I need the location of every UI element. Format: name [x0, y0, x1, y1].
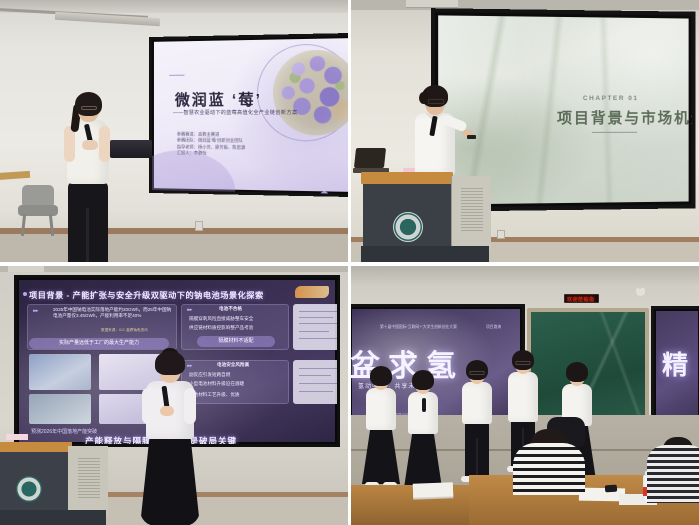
presenter-person [62, 96, 114, 262]
slide-subtitle: ——智慧农业驱动下的蓝莓高值化全产业链创新方案 [173, 109, 298, 116]
chair-leg-left [21, 214, 26, 236]
classroom-chair [18, 185, 58, 235]
glasses-icon [470, 371, 485, 375]
presenter-arm-right [99, 126, 110, 162]
right-slide: 精 [656, 311, 698, 423]
photo-top-left[interactable]: 微润蓝 ‘莓’ ——智慧农业驱动下的蓝莓高值化全产业链创新方案 参赛赛道：高教主… [0, 0, 348, 262]
chair-leg-right [49, 214, 54, 236]
school-emblem-icon [16, 476, 42, 502]
slide-left-pill: 实际产量远低于工厂的最大生产能力 [29, 338, 169, 349]
ceiling-strip [351, 266, 699, 288]
judge-1-striped-sweater [513, 443, 585, 495]
lectern-base [361, 246, 489, 262]
lectern-base [0, 510, 106, 525]
doc-line [299, 323, 339, 324]
doc-line [299, 368, 337, 369]
slide-left-text: 2025年中国钠电池实际落地产能约20GWh，而25年中国钠电池产量仅3.45G… [53, 307, 173, 320]
slide-mid1-bullet-1: 隔膜穿刺风险直接威胁整车安全 [189, 316, 253, 322]
led-banner: 欢迎莅临指导 [564, 294, 599, 303]
slide-tick-mark [169, 75, 184, 76]
member-shirt [508, 372, 538, 422]
doc-line [299, 317, 333, 318]
presenter-skirt [140, 436, 200, 525]
member-shirt [462, 382, 492, 424]
photo-top-right[interactable]: CHAPTER 01 项目背景与市场机遇 [351, 0, 699, 262]
slide-right-document-2 [293, 360, 340, 404]
presenter-person [411, 90, 461, 185]
slide-title: 微润蓝 ‘莓’ [175, 88, 262, 110]
slide-dot-decoration [320, 191, 329, 197]
slide-meta-block: 参赛赛道：高教主赛道 参赛团队：微润蓝‘莓’创新创业团队 指导老师：杨小芳、廖芳… [177, 132, 245, 158]
slide-chapter-title: 项目背景与市场机遇 [557, 107, 695, 128]
member-skirt [362, 428, 400, 484]
right-slide-big-title: 精 [662, 345, 688, 382]
photo-collage: 微润蓝 ‘莓’ ——智慧农业驱动下的蓝莓高值化全产业链创新方案 参赛赛道：高教主… [0, 0, 699, 525]
presenter-hair-bun [419, 92, 428, 104]
school-emblem-icon [393, 212, 423, 242]
stacked-papers-left [413, 482, 453, 497]
slide-title: 项目背景 - 产能扩张与安全升级双驱动下的钠电池场景化探索 [29, 289, 264, 301]
slide-underline-rule [592, 132, 637, 133]
projection-screen: 微润蓝 ‘莓’ ——智慧农业驱动下的蓝莓高值化全产业链创新方案 参赛赛道：高教主… [149, 33, 348, 197]
slide-mid2-heading: 电池安全风险高 [217, 362, 249, 368]
doc-line [299, 311, 337, 312]
doc-line [299, 375, 331, 376]
slide-footer-note: 预测2026年中国落地产能突破 [31, 428, 97, 435]
presenter-hair [155, 351, 185, 375]
team-member-1 [359, 370, 403, 490]
presenter-person [136, 356, 206, 525]
wall-socket [497, 230, 505, 239]
lectern-top [0, 442, 72, 452]
led-banner-text: 欢迎莅临指导 [567, 296, 598, 303]
left-slide-corner-text: 项目路演 [486, 325, 501, 330]
slide-right-document-1 [293, 304, 340, 350]
chevron-right-icon: ▸▸▸ [187, 307, 192, 313]
slide-mid1-pill: 隔膜材料不适配 [197, 336, 275, 347]
presenter-hair [75, 92, 102, 116]
microphone-icon [422, 398, 426, 412]
judge-2-striped-sweater [647, 445, 699, 503]
slide-meta-line-3: 指导老师：杨小芳、廖芳振、陈思源 [177, 144, 245, 151]
doc-line [299, 331, 329, 332]
blueberry-basket-image [273, 49, 348, 135]
laptop-screen [354, 148, 386, 168]
slide-factory-photo-2 [29, 394, 91, 424]
doc-line [299, 338, 337, 339]
member-shirt [366, 388, 396, 430]
member-hair [566, 362, 588, 382]
security-camera-icon [636, 288, 645, 296]
member-hair [512, 350, 534, 370]
presenter-hands [160, 406, 174, 416]
member-trousers [465, 422, 489, 482]
presenter-arm-left [142, 388, 154, 424]
lectern-speaker-grill [78, 458, 100, 498]
lectern-front-panel [363, 184, 451, 246]
glasses-icon [516, 361, 531, 365]
presentation-clicker-icon [467, 135, 476, 139]
slide-left-source: 数据来源：ICC 鑫椤钠电资讯 [101, 327, 148, 333]
slide-title-bullet [23, 292, 27, 296]
presenter-arm-right [184, 388, 196, 424]
member-skirt [404, 432, 442, 488]
chevron-right-icon: ▸▸▸ [33, 308, 38, 314]
right-projection-screen: 精 [651, 306, 699, 428]
slide-mid1-heading: 电池不合格 [219, 306, 242, 312]
air-conditioner [406, 0, 458, 8]
presenter-hands [82, 140, 98, 150]
papers-on-lectern [6, 434, 28, 440]
glasses-icon [428, 99, 444, 104]
photo-bottom-right[interactable]: 第十届中国国际“互联网+”大学生创新创业大赛 项目路演 盆求氢 氢动中国 · 共… [351, 266, 699, 525]
team-member-3 [455, 364, 499, 490]
mobile-phone [605, 485, 617, 493]
slide-meta-line-4: 汇报人：李静怡 [177, 151, 245, 158]
member-hair [370, 366, 392, 386]
team-member-2 [401, 374, 445, 494]
lectern [361, 172, 491, 262]
air-conditioner [8, 266, 44, 272]
member-hair [412, 370, 434, 390]
ceiling-strip [0, 266, 348, 272]
glasses-icon [81, 106, 97, 110]
slide-title-blueberry: 微润蓝 ‘莓’ ——智慧农业驱动下的蓝莓高值化全产业链创新方案 参赛赛道：高教主… [154, 38, 348, 192]
lectern-front-panel [0, 452, 68, 510]
slide-factory-photo-1 [29, 354, 91, 390]
presenter-trousers [68, 182, 108, 262]
doc-line [299, 383, 339, 384]
slide-chapter-label: CHAPTER 01 [583, 95, 639, 102]
lectern [0, 442, 108, 525]
wall-socket [195, 221, 203, 231]
member-hair [466, 360, 488, 380]
floor [0, 232, 348, 262]
slide-mid1-bullet-2: 供应链材料质控影响整产品考验 [189, 325, 253, 331]
doc-line [299, 391, 333, 392]
small-av-box [110, 140, 152, 158]
lectern-top [361, 172, 453, 184]
competition-logo-icon [295, 286, 329, 298]
photo-bottom-left[interactable]: 项目背景 - 产能扩张与安全升级双驱动下的钠电池场景化探索 ▸▸▸ 2025年中… [0, 266, 348, 525]
left-slide-top-text: 第十届中国国际“互联网+”大学生创新创业大赛 [380, 325, 457, 330]
lectern-speaker-grill [461, 188, 483, 232]
